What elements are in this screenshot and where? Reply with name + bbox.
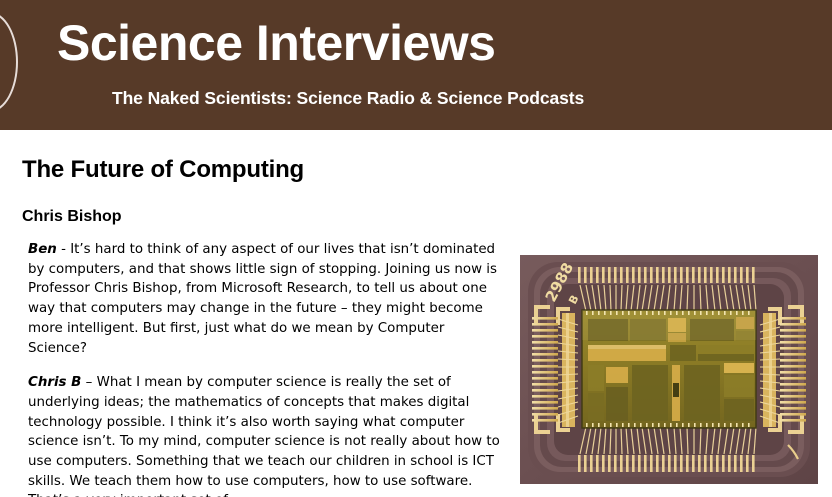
speaker-label: Ben (28, 242, 57, 257)
transcript-entry: Ben - It’s hard to think of any aspect o… (28, 240, 506, 358)
circle-arc-logo-icon (0, 12, 18, 112)
site-title: Science Interviews (57, 18, 495, 68)
article-byline: Chris Bishop (22, 208, 122, 226)
page-title: The Future of Computing (22, 156, 304, 184)
transcript-text: What I mean by computer science is reall… (28, 375, 500, 497)
microchip-die-photo: 2988 B (520, 255, 818, 484)
transcript-entry: Chris B – What I mean by computer scienc… (28, 373, 506, 497)
page-body: The Future of Computing Chris Bishop Ben… (0, 130, 832, 497)
transcript-container: Ben - It’s hard to think of any aspect o… (28, 240, 506, 497)
speaker-separator: – (81, 375, 96, 390)
site-header: Science Interviews The Naked Scientists:… (0, 0, 832, 130)
transcript-text: It’s hard to think of any aspect of our … (28, 242, 497, 356)
speaker-separator: - (57, 242, 70, 257)
microchip-die-illustration: 2988 B (520, 255, 818, 484)
site-subtitle: The Naked Scientists: Science Radio & Sc… (112, 88, 584, 109)
speaker-label: Chris B (28, 375, 81, 390)
